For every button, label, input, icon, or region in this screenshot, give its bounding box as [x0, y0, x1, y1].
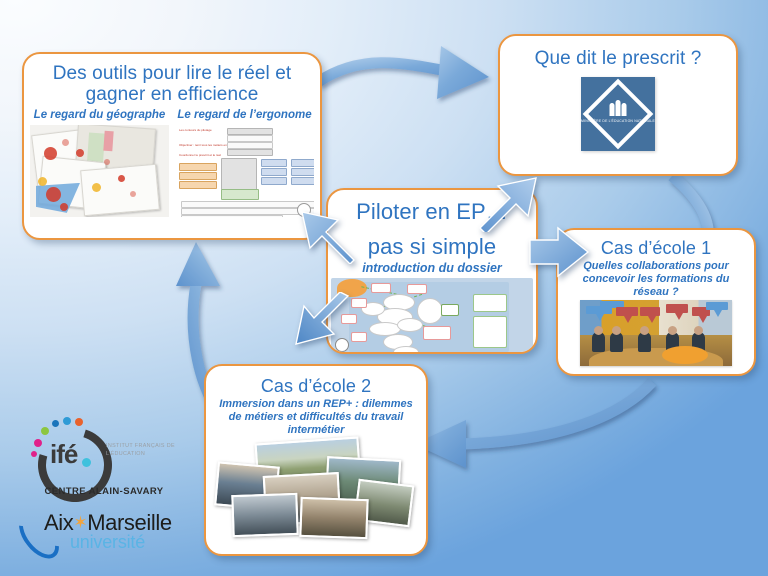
card-subtitle: Immersion dans un REP+ : dilemmes de mét…: [206, 398, 426, 436]
slide-canvas: Des outils pour lire le réel et gagner e…: [0, 0, 768, 576]
card-title: Que dit le prescrit ?: [500, 36, 736, 75]
arrow-center-to-cas1: [528, 224, 590, 280]
card-des-outils[interactable]: Des outils pour lire le réel et gagner e…: [22, 52, 322, 240]
caption-ergonome: Le regard de l’ergonome: [173, 109, 316, 122]
card-cas-d-ecole-2[interactable]: Cas d’école 2 Immersion dans un REP+ : d…: [204, 364, 428, 556]
arrow-center-to-outils: [292, 186, 358, 264]
meeting-photo-thumbnail: [580, 300, 732, 366]
photo-collage-thumbnail: [208, 438, 424, 534]
arrow-center-to-prescrit: [476, 152, 548, 232]
arrow-cas1-to-cas2: [414, 382, 652, 468]
people-icon: [610, 100, 627, 116]
logo-caption: MINISTÈRE DE L’ÉDUCATION NATIONALE: [581, 119, 655, 124]
card-title: Des outils pour lire le réel et gagner e…: [24, 54, 320, 106]
mind-map-thumbnail: [331, 278, 533, 354]
caption-geographe: Le regard du géographe: [28, 109, 171, 122]
ministere-education-nationale-logo: MINISTÈRE DE L’ÉDUCATION NATIONALE: [581, 77, 655, 151]
card-subtitle: introduction du dossier: [328, 259, 536, 276]
arrow-center-to-cas2: [282, 292, 358, 372]
map-collage-thumbnail: [30, 125, 169, 217]
arrow-outils-to-prescrit: [318, 46, 489, 99]
